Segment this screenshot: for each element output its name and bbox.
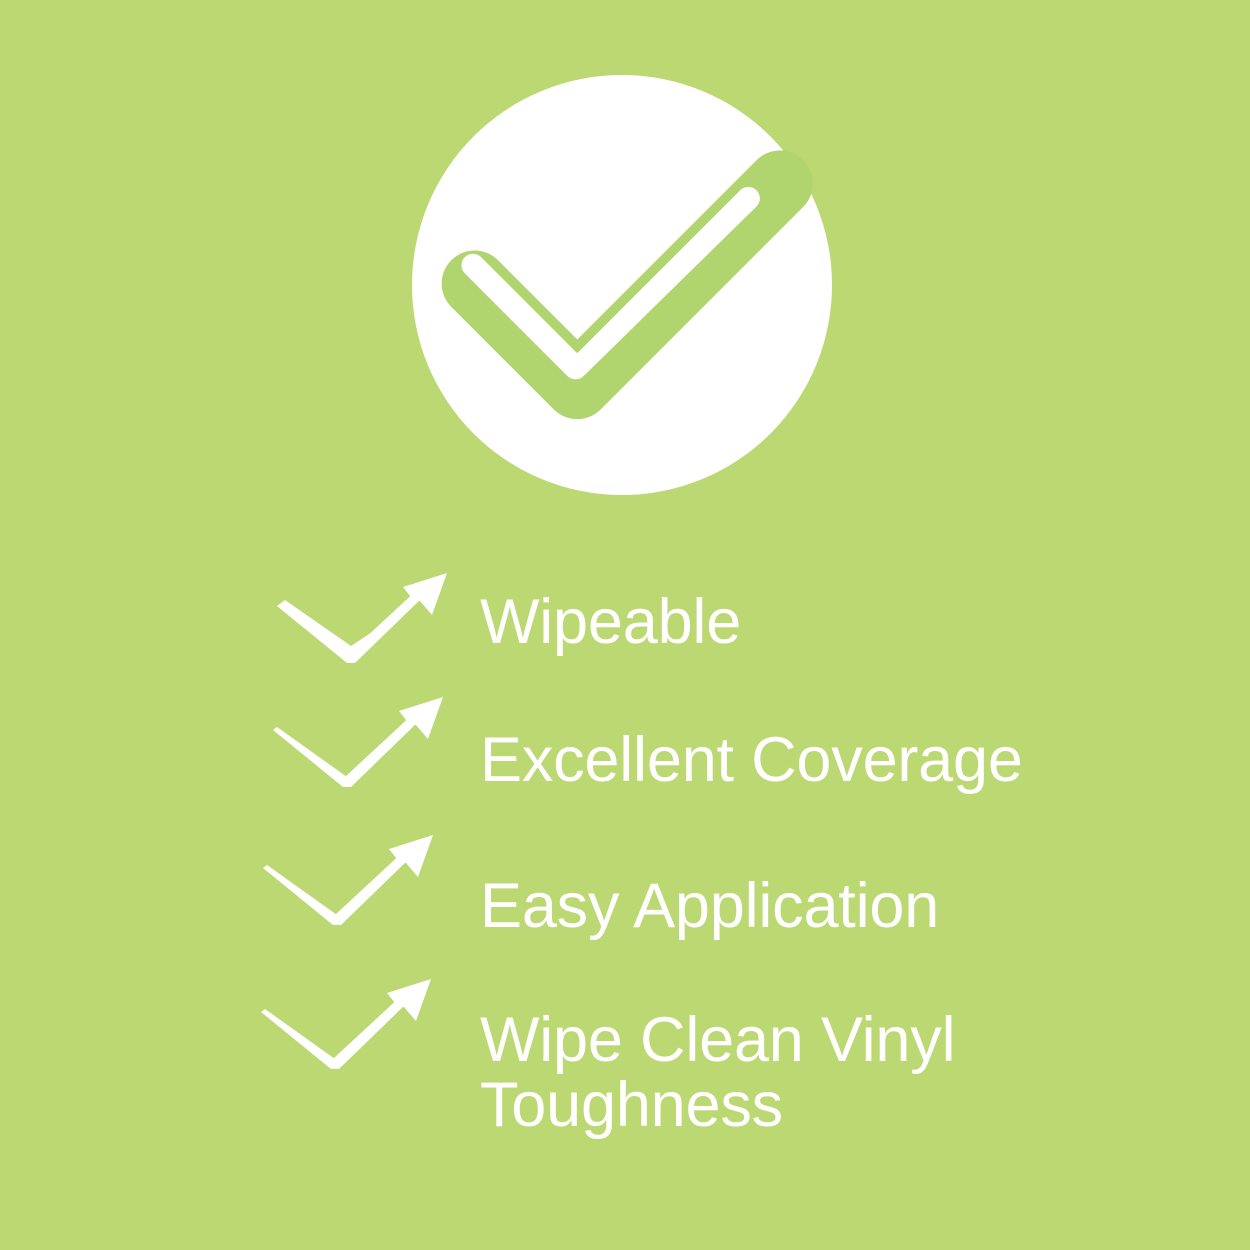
check-arrow-icon — [256, 976, 446, 1080]
list-item: Easy Application — [0, 832, 1250, 970]
check-arrow-icon — [268, 694, 458, 798]
list-item: Excellent Coverage — [0, 694, 1250, 832]
feature-label: Wipe Clean Vinyl Toughness — [480, 1008, 955, 1138]
feature-label: Wipeable — [480, 590, 741, 655]
check-arrow-icon — [258, 832, 448, 936]
check-circle-badge — [412, 75, 832, 495]
feature-label: Easy Application — [480, 874, 939, 939]
list-item: Wipe Clean Vinyl Toughness — [0, 970, 1250, 1108]
feature-label: Excellent Coverage — [480, 728, 1023, 793]
check-circle-icon — [412, 75, 832, 495]
feature-list: Wipeable Excellent Coverage Easy Applica… — [0, 556, 1250, 1108]
list-item: Wipeable — [0, 556, 1250, 694]
feature-poster: Wipeable Excellent Coverage Easy Applica… — [0, 0, 1250, 1250]
check-arrow-icon — [272, 570, 462, 674]
